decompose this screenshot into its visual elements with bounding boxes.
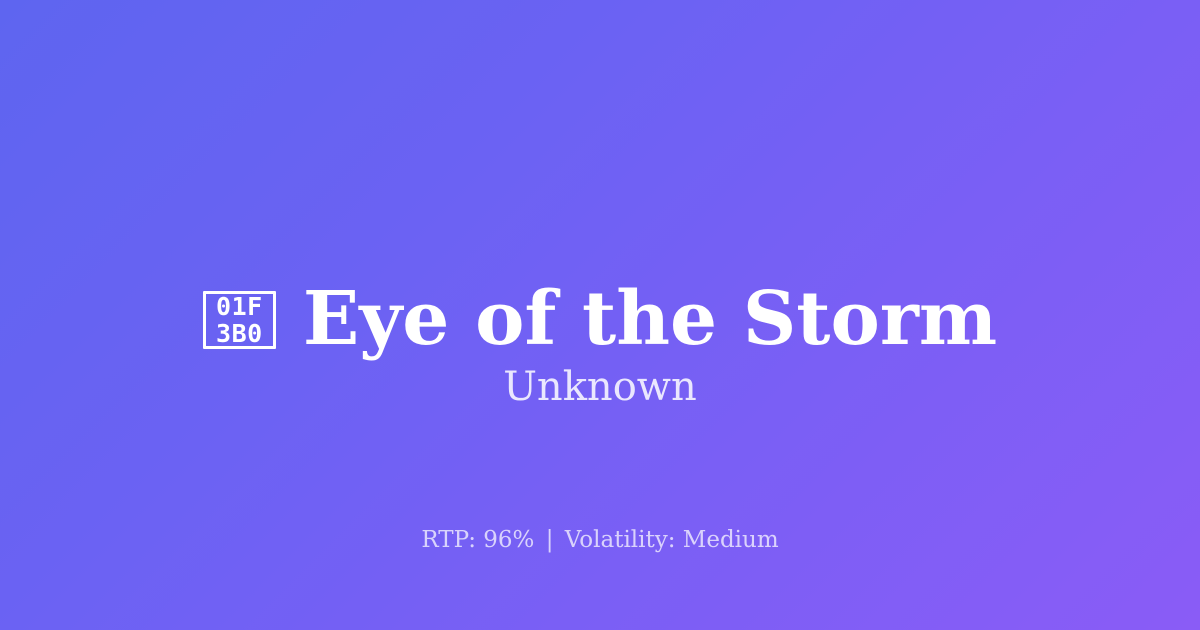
volatility-stat: Volatility: Medium [565,527,779,553]
page-title: Eye of the Storm [303,281,997,359]
rtp-stat: RTP: 96% [421,527,534,553]
game-stats-bar: RTP: 96% | Volatility: Medium [0,527,1200,555]
provider-label: Unknown [0,363,1200,411]
stat-separator: | [542,527,558,553]
tofu-codepoint-top: 01F [216,294,263,319]
game-preview-card: 01F 3B0 Eye of the Storm Unknown RTP: 96… [0,0,1200,630]
tofu-codepoint-bottom: 3B0 [216,321,263,346]
slot-machine-emoji-icon: 01F 3B0 [203,291,276,349]
